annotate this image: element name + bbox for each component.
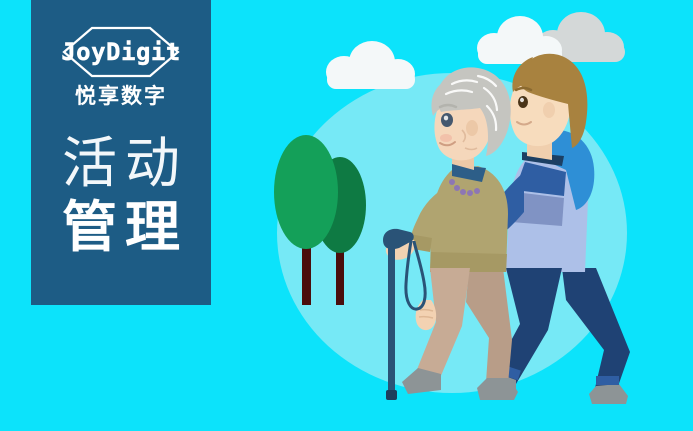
- cane-tip: [386, 390, 397, 400]
- page-title-line-2: 管理: [54, 197, 188, 259]
- title-panel: JoyDigit 悦享数字 活动 管理: [31, 0, 211, 305]
- brand-logo-cn: 悦享数字: [75, 86, 167, 107]
- man-ear: [543, 102, 555, 118]
- man-back-shoe: [589, 384, 628, 404]
- brand-logo: JoyDigit: [51, 26, 191, 78]
- woman-ear: [466, 120, 478, 136]
- page-title-line-1: 活动: [54, 133, 188, 195]
- poster-canvas: JoyDigit 悦享数字 活动 管理: [0, 0, 693, 431]
- man-eye: [518, 96, 528, 108]
- cloud-left: [326, 41, 415, 89]
- brand-logo-text: JoyDigit: [61, 40, 181, 64]
- page-title: 活动 管理: [54, 133, 188, 258]
- cane-shaft: [388, 246, 395, 396]
- woman-cheek: [440, 134, 452, 142]
